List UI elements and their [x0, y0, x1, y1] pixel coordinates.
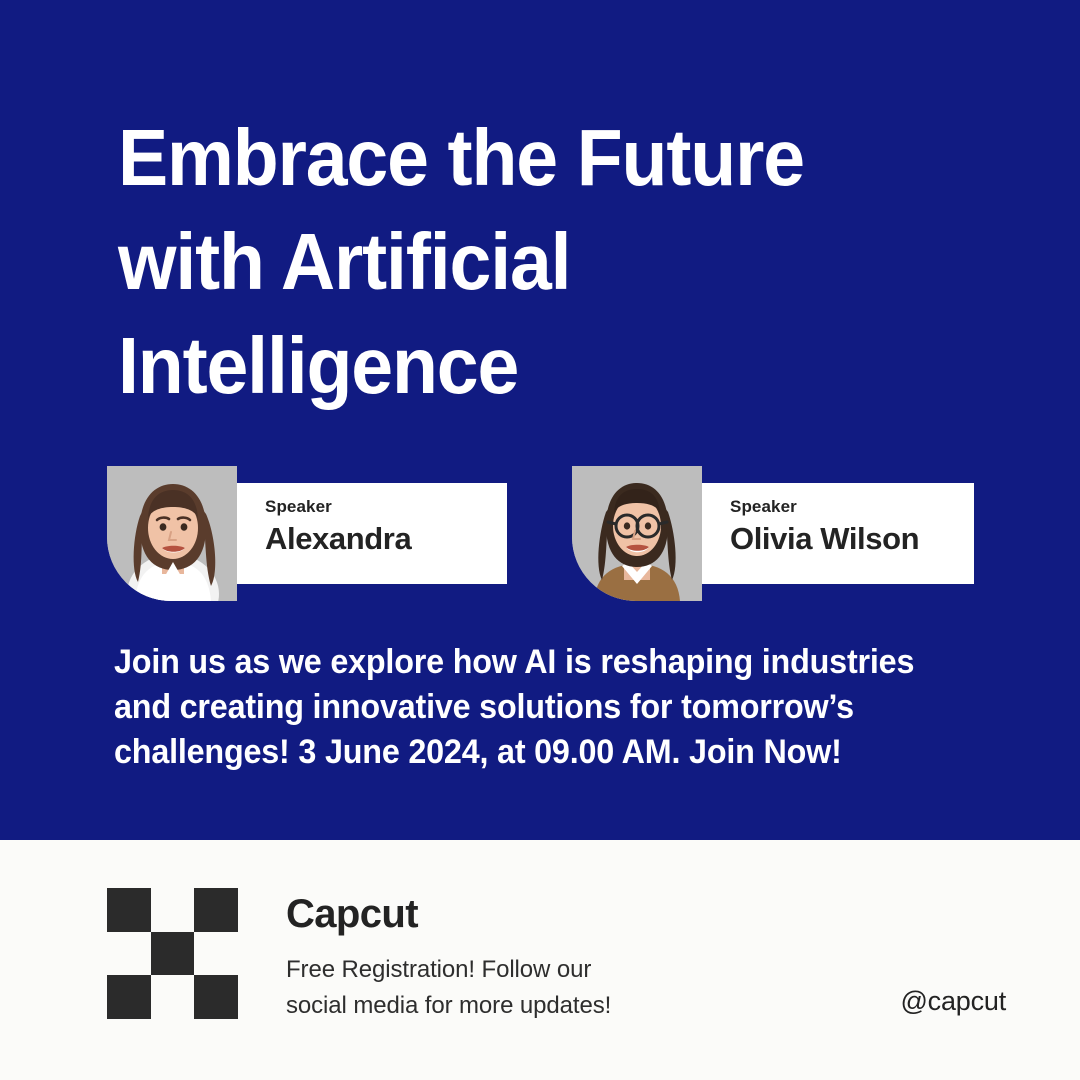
- speaker-name: Olivia Wilson: [730, 520, 974, 558]
- logo-cell: [107, 888, 151, 932]
- speaker-info-panel: Speaker Alexandra: [237, 483, 507, 584]
- event-description: Join us as we explore how AI is reshapin…: [114, 640, 960, 775]
- logo-cell: [107, 975, 151, 1019]
- brand-tagline: Free Registration! Follow our social med…: [286, 952, 746, 1024]
- logo-cell: [107, 932, 151, 976]
- speaker-role-label: Speaker: [730, 497, 974, 517]
- logo-cell: [194, 932, 238, 976]
- logo-cell: [151, 932, 195, 976]
- logo-cell: [194, 888, 238, 932]
- speaker-role-label: Speaker: [265, 497, 507, 517]
- logo-cell: [194, 975, 238, 1019]
- brand-block: Capcut Free Registration! Follow our soc…: [286, 890, 746, 1024]
- hero-section: Embrace the Future with Artificial Intel…: [118, 106, 998, 418]
- social-handle[interactable]: @capcut: [900, 985, 1006, 1017]
- speaker-name: Alexandra: [265, 520, 507, 558]
- brand-name: Capcut: [286, 890, 746, 938]
- checkerboard-logo-icon: [107, 888, 238, 1019]
- speaker-list: Speaker Alexandra: [107, 466, 1007, 606]
- logo-cell: [151, 888, 195, 932]
- avatar: [572, 466, 702, 601]
- poster-canvas: Embrace the Future with Artificial Intel…: [0, 0, 1080, 1080]
- logo-cell: [151, 975, 195, 1019]
- speaker-info-panel: Speaker Olivia Wilson: [702, 483, 974, 584]
- page-title: Embrace the Future with Artificial Intel…: [118, 106, 945, 418]
- avatar: [107, 466, 237, 601]
